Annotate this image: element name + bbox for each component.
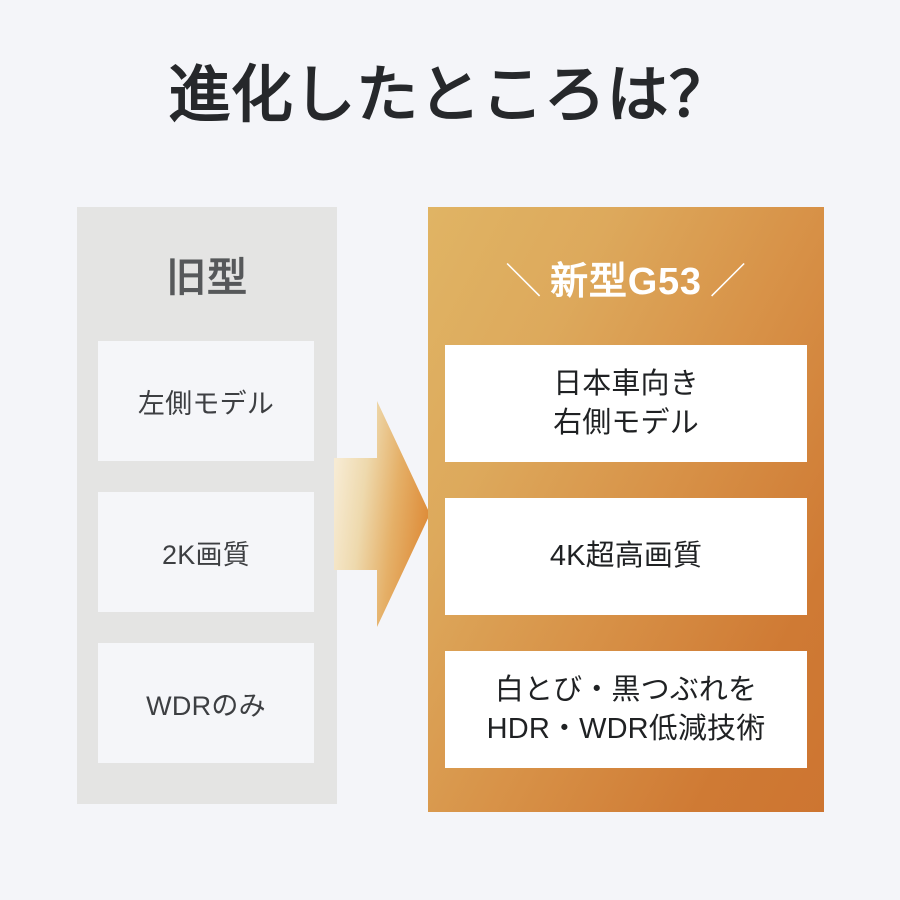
old-model-feature-card: 2K画質 [98,492,314,612]
old-model-feature-label: WDRのみ [146,684,266,723]
decoration-slash-right-icon: ／ [710,252,747,304]
new-model-feature-card: 白とび・黒つぶれを HDR・WDR低減技術 [445,651,807,768]
new-model-panel: ＼新型G53／ 日本車向き 右側モデル 4K超高画質 白とび・黒つぶれを HDR… [428,207,824,812]
arrow-right-icon [334,401,430,627]
old-model-feature-card: 左側モデル [98,341,314,461]
new-model-feature-card: 日本車向き 右側モデル [445,345,807,462]
old-model-header: 旧型 [77,245,337,303]
new-model-feature-label: 4K超高画質 [550,537,702,575]
infographic-canvas: 進化したところは？ 旧型 左側モデル 2K画質 WDRのみ [0,0,900,900]
new-model-header-label: 新型G53 [550,261,702,303]
new-model-feature-label: 日本車向き 右側モデル [553,365,699,442]
new-model-header: ＼新型G53／ [428,250,824,305]
old-model-feature-card: WDRのみ [98,643,314,763]
old-model-feature-label: 左側モデル [138,382,274,421]
old-model-feature-label: 2K画質 [162,533,250,572]
decoration-slash-left-icon: ＼ [505,252,542,304]
new-model-feature-card: 4K超高画質 [445,498,807,615]
comparison-section: 旧型 左側モデル 2K画質 WDRのみ [0,0,900,900]
new-model-feature-label: 白とび・黒つぶれを HDR・WDR低減技術 [487,671,766,748]
old-model-panel: 旧型 左側モデル 2K画質 WDRのみ [77,207,337,804]
